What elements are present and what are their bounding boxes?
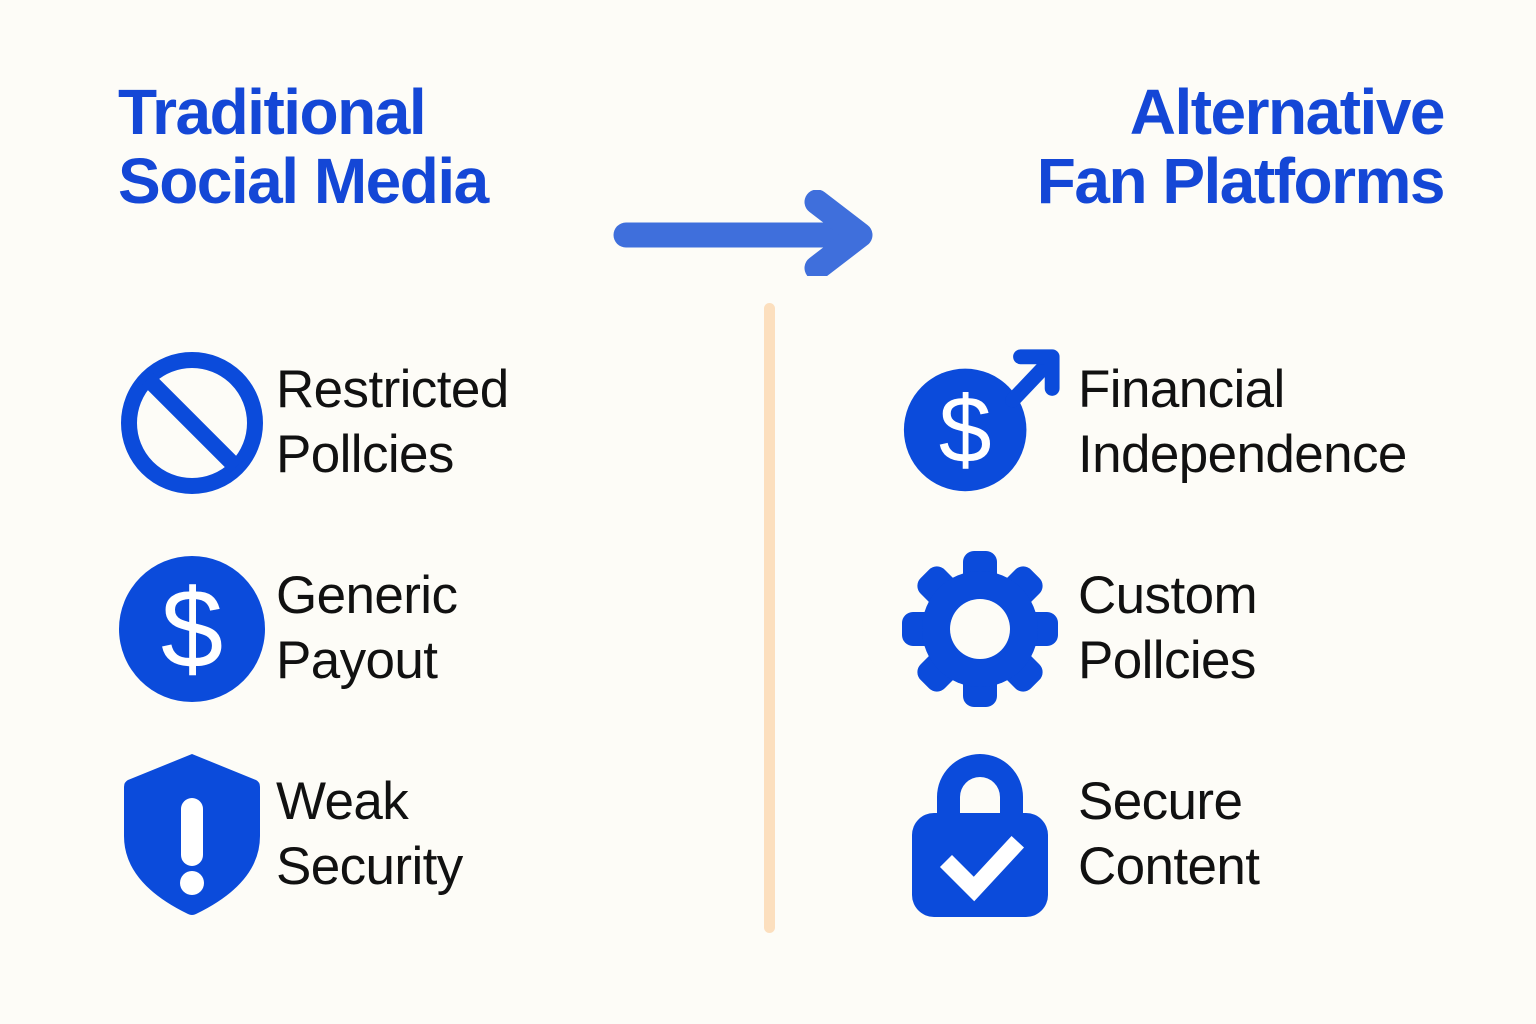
prohibition-icon (108, 335, 276, 511)
dollar-growth-icon: $ (896, 335, 1064, 511)
right-column: $ Financial Independence (896, 320, 1536, 938)
feature-label: Restricted Pollcies (276, 358, 509, 487)
infographic-canvas: Traditional Social Media Alternative Fan… (0, 0, 1536, 1024)
headings-row: Traditional Social Media Alternative Fan… (0, 78, 1536, 268)
left-column: Restricted Pollcies $ Generic Payout Wea… (108, 320, 748, 938)
shield-warning-icon (108, 747, 276, 923)
lock-check-icon (896, 747, 1064, 923)
feature-row: Custom Pollcies (896, 526, 1536, 732)
transition-arrow (612, 190, 882, 276)
feature-row: $ Generic Payout (108, 526, 748, 732)
feature-label: Secure Content (1078, 770, 1259, 899)
svg-text:$: $ (161, 567, 223, 692)
feature-label: Generic Payout (276, 564, 457, 693)
feature-label: Custom Pollcies (1078, 564, 1257, 693)
feature-label: Weak Security (276, 770, 463, 899)
feature-row: Secure Content (896, 732, 1536, 938)
dollar-circle-icon: $ (108, 541, 276, 717)
feature-label: Financial Independence (1078, 358, 1407, 487)
feature-row: Weak Security (108, 732, 748, 938)
gear-icon (896, 541, 1064, 717)
left-column-heading: Traditional Social Media (118, 78, 488, 216)
svg-text:$: $ (939, 377, 992, 483)
feature-row: $ Financial Independence (896, 320, 1536, 526)
feature-row: Restricted Pollcies (108, 320, 748, 526)
right-column-heading: Alternative Fan Platforms (1037, 78, 1444, 216)
right-arrow-icon (612, 190, 882, 276)
column-divider (764, 303, 775, 933)
